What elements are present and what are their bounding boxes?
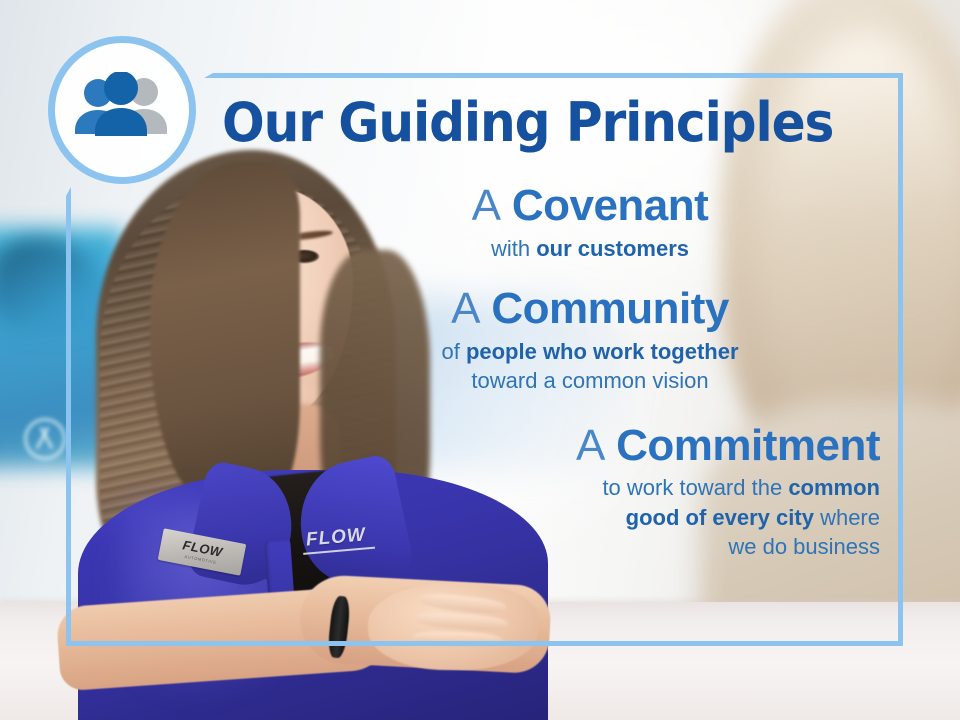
frame-border-left — [66, 196, 71, 646]
principle-commitment: A Commitment to work toward the commongo… — [300, 420, 880, 562]
principle-subtext: of people who work togethertoward a comm… — [300, 337, 880, 396]
principle-keyword: Covenant — [512, 181, 708, 230]
principle-article: A — [451, 284, 491, 333]
principle-keyword: Commitment — [616, 421, 880, 470]
people-group-icon — [70, 72, 174, 148]
principle-covenant: A Covenant with our customers — [300, 180, 880, 263]
principle-heading: A Covenant — [300, 180, 880, 232]
principle-heading: A Commitment — [300, 420, 880, 472]
principle-subtext: to work toward the commongood of every c… — [300, 473, 880, 561]
frame-border-right — [898, 73, 903, 646]
guiding-principles-graphic: FLOW AUTOMOTIVE FLOW — [0, 0, 960, 720]
frame-border-top — [213, 73, 903, 78]
principle-keyword: Community — [491, 284, 729, 333]
principle-heading: A Community — [300, 283, 880, 335]
principle-community: A Community of people who work togethert… — [300, 283, 880, 395]
principle-article: A — [472, 181, 512, 230]
people-badge — [48, 36, 196, 184]
principle-article: A — [576, 421, 616, 470]
employee-hair-front-left — [150, 162, 300, 502]
principle-subtext: with our customers — [300, 234, 880, 263]
principles-list: A Covenant with our customers A Communit… — [300, 180, 880, 565]
page-title: Our Guiding Principles — [222, 96, 833, 150]
frame-border-bottom — [66, 641, 903, 646]
